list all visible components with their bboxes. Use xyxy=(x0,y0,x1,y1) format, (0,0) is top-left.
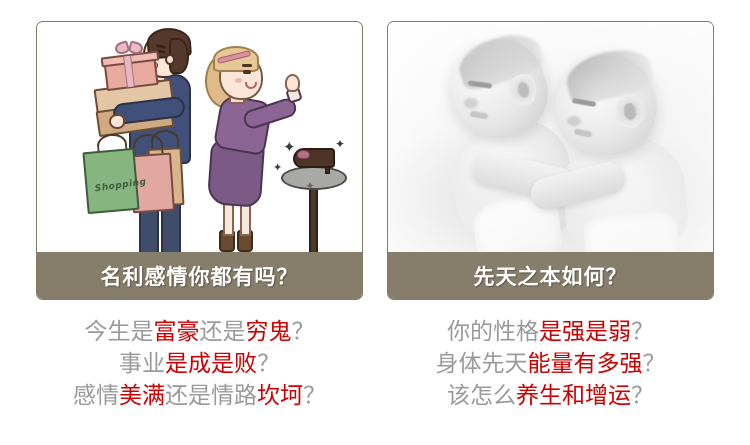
panel-columns: Shopping xyxy=(0,0,750,412)
plain-text: ？ xyxy=(303,383,326,409)
plain-text: 该怎么 xyxy=(447,383,516,409)
baby-left-nose xyxy=(464,98,478,108)
question-line: 身体先天能量有多强？ xyxy=(387,348,714,380)
highlighted-text: 坎坷 xyxy=(257,383,303,409)
question-line: 感情美满还是情路坎坷？ xyxy=(36,380,363,412)
question-line: 今生是富豪还是穷鬼？ xyxy=(36,316,363,348)
highlighted-text: 养生和增运 xyxy=(516,383,631,409)
plain-text: 身体先天 xyxy=(436,351,528,377)
plain-text: ？ xyxy=(631,319,654,345)
card-caption-banner: 名利感情你都有吗？ xyxy=(37,252,362,299)
highlighted-text: 美满 xyxy=(119,383,165,409)
plain-text: 今生是 xyxy=(85,319,154,345)
woman-hand xyxy=(285,74,300,92)
card-caption-text: 名利感情你都有吗？ xyxy=(101,261,299,291)
woman-eye xyxy=(243,70,251,74)
highlighted-text: 是成是败 xyxy=(165,351,257,377)
sparkle-icon: ✦ xyxy=(273,162,282,173)
sparkle-icon: ✦ xyxy=(305,180,315,192)
photo-card[interactable]: 先天之本如何？ xyxy=(387,21,714,300)
question-block: 你的性格是强是弱？ 身体先天能量有多强？ 该怎么养生和增运？ xyxy=(387,316,714,412)
man-hand xyxy=(109,114,125,129)
illustration-card[interactable]: Shopping xyxy=(36,21,363,300)
card-caption-text: 先天之本如何？ xyxy=(474,261,628,291)
plain-text: ？ xyxy=(257,351,280,377)
plain-text: ？ xyxy=(643,351,666,377)
card-media: Shopping xyxy=(37,22,362,254)
plain-text: ？ xyxy=(292,319,315,345)
wealth-love-panel: Shopping xyxy=(36,0,363,412)
promo-banner-page: Shopping xyxy=(0,0,750,445)
shopping-couple-illustration: Shopping xyxy=(37,22,362,254)
man-ear xyxy=(165,54,175,65)
question-line: 事业是成是败？ xyxy=(36,348,363,380)
plain-text: 还是情路 xyxy=(165,383,257,409)
plain-text: 感情 xyxy=(73,383,119,409)
card-media xyxy=(388,22,713,254)
question-block: 今生是富豪还是穷鬼？ 事业是成是败？ 感情美满还是情路坎坷？ xyxy=(36,316,363,412)
question-line: 该怎么养生和增运？ xyxy=(387,380,714,412)
woman-eyebrow xyxy=(242,64,252,67)
card-caption-banner: 先天之本如何？ xyxy=(388,252,713,299)
shoe-bow xyxy=(297,150,310,159)
highlighted-text: 富豪 xyxy=(154,319,200,345)
plain-text: ？ xyxy=(631,383,654,409)
highlighted-text: 是强是弱 xyxy=(539,319,631,345)
plain-text: 事业 xyxy=(119,351,165,377)
woman-blush xyxy=(235,78,242,83)
baby-right-nose xyxy=(567,116,581,126)
sparkle-icon: ✦ xyxy=(283,140,296,155)
highlighted-text: 能量有多强 xyxy=(528,351,643,377)
highlighted-text: 穷鬼 xyxy=(246,319,292,345)
plain-text: 还是 xyxy=(200,319,246,345)
sparkle-icon: ✦ xyxy=(335,138,345,150)
constitution-panel: 先天之本如何？ 你的性格是强是弱？ 身体先天能量有多强？ 该怎么养生和增运？ xyxy=(387,0,714,412)
question-line: 你的性格是强是弱？ xyxy=(387,316,714,348)
sleeping-babies-photo xyxy=(388,22,713,254)
plain-text: 你的性格 xyxy=(447,319,539,345)
